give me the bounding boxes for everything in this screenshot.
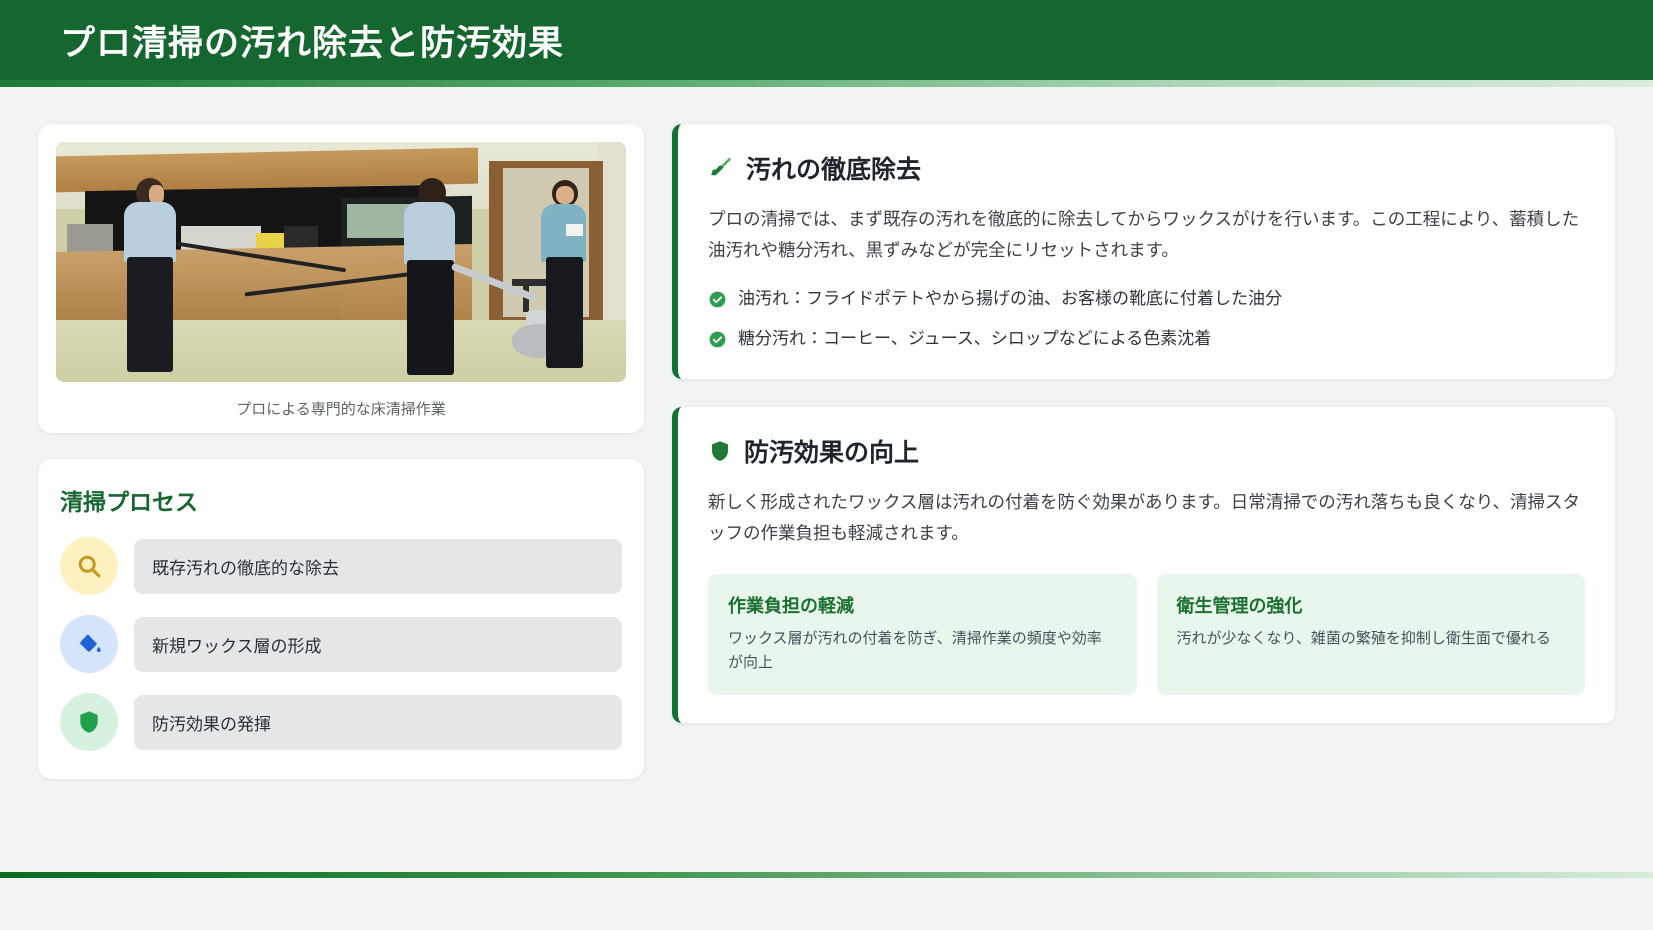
process-item-protection[interactable]: 防汚効果の発揮 bbox=[60, 693, 622, 751]
process-item-label: 防汚効果の発揮 bbox=[134, 695, 622, 750]
header-accent-bar bbox=[0, 80, 1653, 87]
card-dirt-removal: 汚れの徹底除去 プロの清掃では、まず既存の汚れを徹底的に除去してからワックスがけ… bbox=[672, 124, 1615, 379]
card-stain-protection: 防汚効果の向上 新しく形成されたワックス層は汚れの付着を防ぐ効果があります。日常… bbox=[672, 407, 1615, 723]
page-title: プロ清掃の汚れ除去と防汚効果 bbox=[60, 15, 564, 66]
photo-worker-3-pants bbox=[546, 257, 583, 367]
shield-icon bbox=[60, 693, 118, 751]
benefit-text: ワックス層が汚れの付着を防ぎ、清掃作業の頻度や効率が向上 bbox=[728, 627, 1117, 676]
check-item-text: 油汚れ：フライドポテトやから揚げの油、お客様の靴底に付着した油分 bbox=[738, 286, 1282, 312]
broom-icon bbox=[708, 155, 734, 181]
benefit-title: 作業負担の軽減 bbox=[728, 592, 1117, 618]
process-item-label: 新規ワックス層の形成 bbox=[134, 617, 622, 672]
process-card: 清掃プロセス 既存汚れの徹底的な除去 bbox=[38, 459, 644, 779]
photo-worker-3-face bbox=[556, 186, 573, 204]
process-item-label: 既存汚れの徹底的な除去 bbox=[134, 539, 622, 594]
footer-accent-bar bbox=[0, 872, 1653, 878]
card-body-text: プロの清掃では、まず既存の汚れを徹底的に除去してからワックスがけを行います。この… bbox=[708, 204, 1585, 266]
check-circle-icon bbox=[708, 286, 727, 309]
page-root: プロ清掃の汚れ除去と防汚効果 bbox=[0, 0, 1653, 930]
check-item-text: 糖分汚れ：コーヒー、ジュース、シロップなどによる色素沈着 bbox=[738, 326, 1211, 352]
card-title: 防汚効果の向上 bbox=[744, 433, 919, 469]
photo-worker-2-shirt bbox=[404, 202, 455, 264]
card-body-text: 新しく形成されたワックス層は汚れの付着を防ぐ効果があります。日常清掃での汚れ落ち… bbox=[708, 487, 1585, 549]
photo-worker-2-pants bbox=[407, 260, 454, 375]
check-circle-icon bbox=[708, 326, 727, 349]
left-column: プロによる専門的な床清掃作業 清掃プロセス 既存汚れの徹底的な除去 bbox=[38, 124, 644, 779]
photo-worker-3-nametag bbox=[566, 224, 583, 236]
shield-icon bbox=[708, 439, 732, 463]
process-title: 清掃プロセス bbox=[60, 483, 622, 517]
page-header: プロ清掃の汚れ除去と防汚効果 bbox=[0, 0, 1653, 80]
list-item: 糖分汚れ：コーヒー、ジュース、シロップなどによる色素沈着 bbox=[708, 326, 1585, 352]
process-item-wax[interactable]: 新規ワックス層の形成 bbox=[60, 615, 622, 673]
photo-worker-1-pants bbox=[127, 257, 173, 372]
photo-worker-1-shirt bbox=[124, 202, 175, 262]
benefit-text: 汚れが少なくなり、雑菌の繁殖を抑制し衛生面で優れる bbox=[1177, 627, 1566, 651]
cleaning-photo bbox=[56, 142, 626, 382]
check-list: 油汚れ：フライドポテトやから揚げの油、お客様の靴底に付着した油分 糖分汚れ：コー… bbox=[708, 286, 1585, 351]
benefit-box-hygiene: 衛生管理の強化 汚れが少なくなり、雑菌の繁殖を抑制し衛生面で優れる bbox=[1157, 574, 1586, 696]
list-item: 油汚れ：フライドポテトやから揚げの油、お客様の靴底に付着した油分 bbox=[708, 286, 1585, 312]
card-header: 防汚効果の向上 bbox=[708, 433, 1585, 469]
content-area: プロによる専門的な床清掃作業 清掃プロセス 既存汚れの徹底的な除去 bbox=[0, 100, 1653, 800]
benefit-box-workload: 作業負担の軽減 ワックス層が汚れの付着を防ぎ、清掃作業の頻度や効率が向上 bbox=[708, 574, 1137, 696]
card-title: 汚れの徹底除去 bbox=[746, 150, 921, 186]
benefit-grid: 作業負担の軽減 ワックス層が汚れの付着を防ぎ、清掃作業の頻度や効率が向上 衛生管… bbox=[708, 574, 1585, 696]
benefit-title: 衛生管理の強化 bbox=[1177, 592, 1566, 618]
card-header: 汚れの徹底除去 bbox=[708, 150, 1585, 186]
right-column: 汚れの徹底除去 プロの清掃では、まず既存の汚れを徹底的に除去してからワックスがけ… bbox=[672, 124, 1615, 723]
paint-bucket-icon bbox=[60, 615, 118, 673]
photo-card: プロによる専門的な床清掃作業 bbox=[38, 124, 644, 433]
process-item-removal[interactable]: 既存汚れの徹底的な除去 bbox=[60, 537, 622, 595]
photo-caption: プロによる専門的な床清掃作業 bbox=[56, 398, 626, 419]
magnifier-icon bbox=[60, 537, 118, 595]
